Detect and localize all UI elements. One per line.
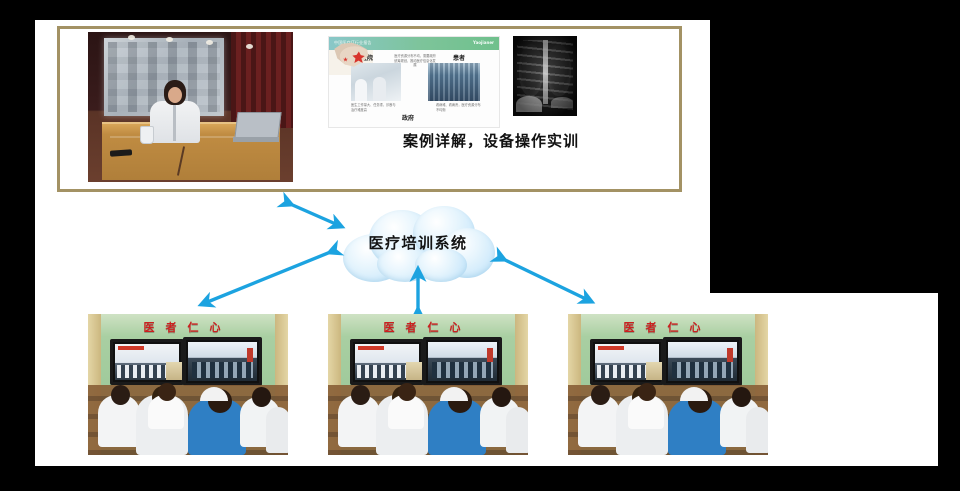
slide-label-government: 政府: [402, 113, 414, 122]
slide-label-patient: 患者: [453, 53, 465, 62]
diagram-canvas: 中国医疗IT行业报告 Yaojianer 医院 医生工作量大、任务重，诊断与治疗…: [0, 0, 960, 491]
classroom-audience: [88, 377, 288, 455]
lecturer-photo: [88, 32, 293, 182]
classroom-banner: 医者仁心: [130, 319, 245, 335]
chest-xray-image: [513, 36, 577, 116]
classroom-photo-1: 医者仁心: [88, 314, 288, 455]
tea-cup: [140, 126, 154, 144]
slide-caption-text: 案例详解，设备操作实训: [403, 130, 579, 151]
presentation-slide-thumbnail: 中国医疗IT行业报告 Yaojianer 医院 医生工作量大、任务重，诊断与治疗…: [328, 36, 500, 128]
slide-caption-center: 医疗资源分布不均，需要政府统筹规划，推动医疗信息化发展: [393, 54, 437, 68]
slide-image-hospital: [351, 63, 401, 101]
slide-header-brand: Yaojianer: [473, 40, 494, 45]
cloud-shape: 医疗培训系统: [339, 204, 497, 284]
lecturer-figure: [150, 80, 200, 142]
laptop: [233, 112, 279, 142]
classroom-banner: 医者仁心: [370, 319, 485, 335]
ceiling-lights: [128, 35, 278, 49]
cloud-label: 医疗培训系统: [339, 232, 497, 253]
classroom-photo-2: 医者仁心: [328, 314, 528, 455]
classroom-banner: 医者仁心: [610, 319, 725, 335]
slide-image-patient: [428, 63, 480, 101]
slide-caption-hospital: 医生工作量大、任务重，诊断与治疗难度高: [351, 103, 397, 112]
classroom-photo-3: 医者仁心: [568, 314, 768, 455]
slide-caption-patient: 看病难、看病贵，医疗资源分布不均衡: [436, 103, 482, 112]
classroom-audience: [328, 377, 528, 455]
classroom-audience: [568, 377, 768, 455]
